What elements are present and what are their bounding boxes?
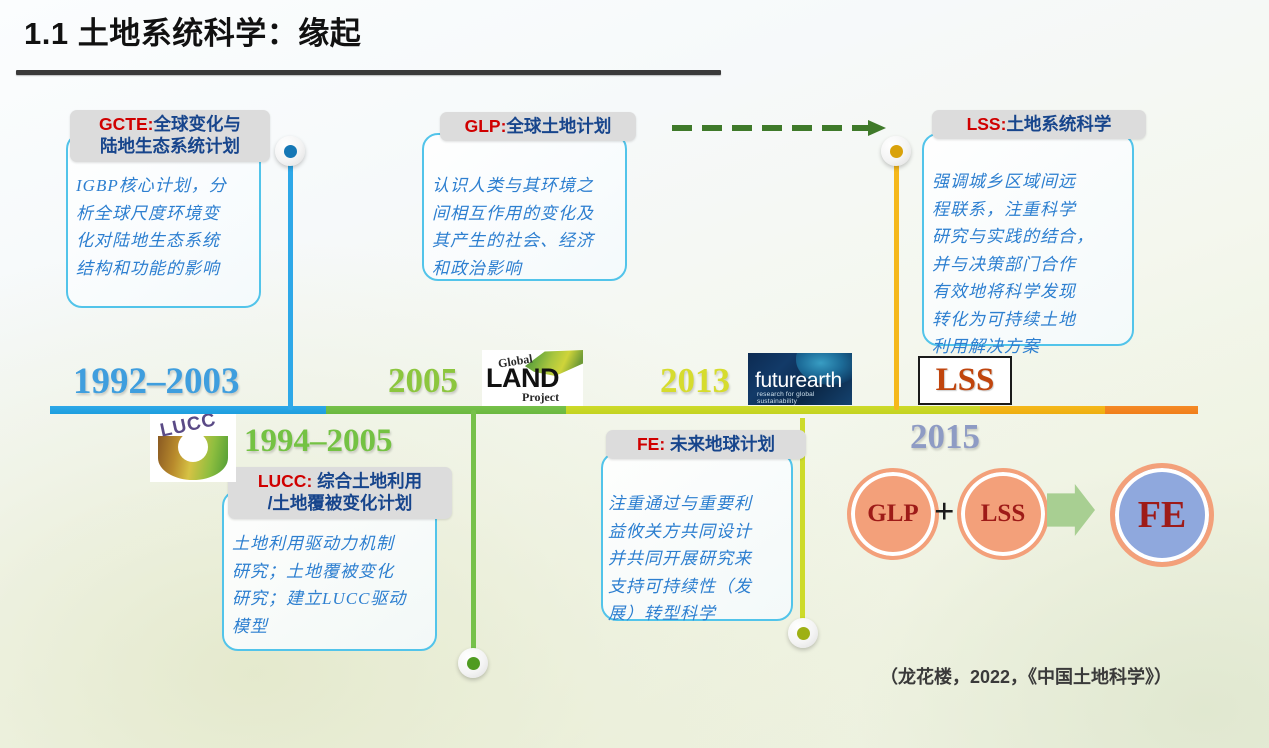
card-lss-header: LSS:土地系统科学 — [932, 110, 1146, 139]
future-earth-logo-name: futurearth — [755, 369, 842, 393]
timeline-segment-gold — [980, 406, 1105, 414]
dashed-arrow-glp-to-lss — [672, 124, 894, 132]
equation-arrow-icon — [1047, 484, 1095, 536]
card-glp-header: GLP:全球土地计划 — [440, 112, 636, 141]
timeline-segment-blue — [50, 406, 326, 414]
card-fe-body: 注重通过与重要利 益攸关方共同设计 并共同开展研究来 支持可持续性（发 展）转型… — [608, 490, 788, 628]
equation-plus-sign: + — [934, 490, 955, 532]
card-glp-heading: 全球土地计划 — [506, 116, 611, 136]
year-label-2005: 2005 — [388, 361, 458, 401]
equation-circle-glp-label: GLP — [867, 500, 918, 528]
equation-circle-lss-label: LSS — [981, 500, 1025, 528]
timeline-node-gcte[interactable] — [275, 136, 305, 166]
year-label-2013: 2013 — [660, 361, 730, 401]
year-label-1992-2003: 1992–2003 — [73, 360, 240, 403]
timeline-node-lss[interactable] — [881, 136, 911, 166]
future-earth-logo: futurearth research for global sustainab… — [748, 353, 852, 405]
glp-logo-line3: Project — [522, 390, 559, 405]
card-gcte-body: IGBP核心计划，分 析全球尺度环境变 化对陆地生态系统 结构和功能的影响 — [76, 172, 254, 282]
arrow-head-icon — [868, 120, 886, 136]
dashed-arrow-shaft — [672, 125, 870, 131]
card-fe-header: FE: 未来地球计划 — [606, 430, 806, 459]
lss-wordmark-box: LSS — [918, 356, 1012, 405]
node-dot-icon — [467, 657, 480, 670]
equation-circle-fe-label: FE — [1138, 493, 1187, 537]
card-lucc-acronym: LUCC: — [258, 471, 312, 491]
equation-circle-glp: GLP — [847, 468, 939, 560]
global-land-project-logo: Global LAND Project — [482, 350, 583, 406]
equation-circle-fe: FE — [1110, 463, 1214, 567]
card-gcte-header: GCTE:全球变化与 陆地生态系统计划 — [70, 110, 270, 162]
card-glp-body: 认识人类与其环境之 间相互作用的变化及 其产生的社会、经济 和政治影响 — [432, 172, 622, 282]
connector-line-lucc — [471, 410, 476, 660]
connector-line-lss — [894, 163, 899, 410]
timeline-segment-lime — [566, 406, 980, 414]
equation-circle-lss: LSS — [957, 468, 1049, 560]
year-label-2015: 2015 — [910, 417, 980, 457]
card-lss-body: 强调城乡区域间远 程联系，注重科学 研究与实践的结合， 并与决策部门合作 有效地… — [932, 168, 1130, 361]
lucc-logo: LUCC — [150, 414, 236, 482]
card-lucc-body: 土地利用驱动力机制 研究；土地覆被变化 研究；建立LUCC驱动 模型 — [232, 530, 434, 640]
card-fe-heading: 未来地球计划 — [665, 434, 775, 454]
node-dot-icon — [797, 627, 810, 640]
timeline-node-lucc[interactable] — [458, 648, 488, 678]
card-lss-acronym: LSS: — [967, 114, 1007, 134]
title-divider — [16, 70, 721, 75]
slide-canvas: 1.1 土地系统科学：缘起 GCTE:全球变化与 陆地生态系统计划 IGBP核心… — [0, 0, 1269, 748]
timeline-segment-green — [326, 406, 566, 414]
page-title: 1.1 土地系统科学：缘起 — [24, 8, 361, 53]
card-glp-acronym: GLP: — [465, 116, 507, 136]
card-lss-heading: 土地系统科学 — [1006, 114, 1111, 134]
timeline-segment-orange — [1105, 406, 1198, 414]
node-dot-icon — [284, 145, 297, 158]
node-dot-icon — [890, 145, 903, 158]
connector-line-gcte — [288, 163, 293, 410]
timeline-node-fe[interactable] — [788, 618, 818, 648]
future-earth-logo-tagline: research for global sustainability — [757, 391, 852, 405]
year-label-1994-2005: 1994–2005 — [244, 423, 393, 460]
card-fe-acronym: FE: — [637, 434, 665, 454]
card-lucc-header: LUCC: 综合土地利用 /土地覆被变化计划 — [228, 467, 452, 519]
citation-text: （龙花楼，2022，《中国土地科学》） — [880, 663, 1172, 689]
lss-wordmark-label: LSS — [936, 362, 995, 399]
card-gcte-acronym: GCTE: — [99, 114, 153, 134]
